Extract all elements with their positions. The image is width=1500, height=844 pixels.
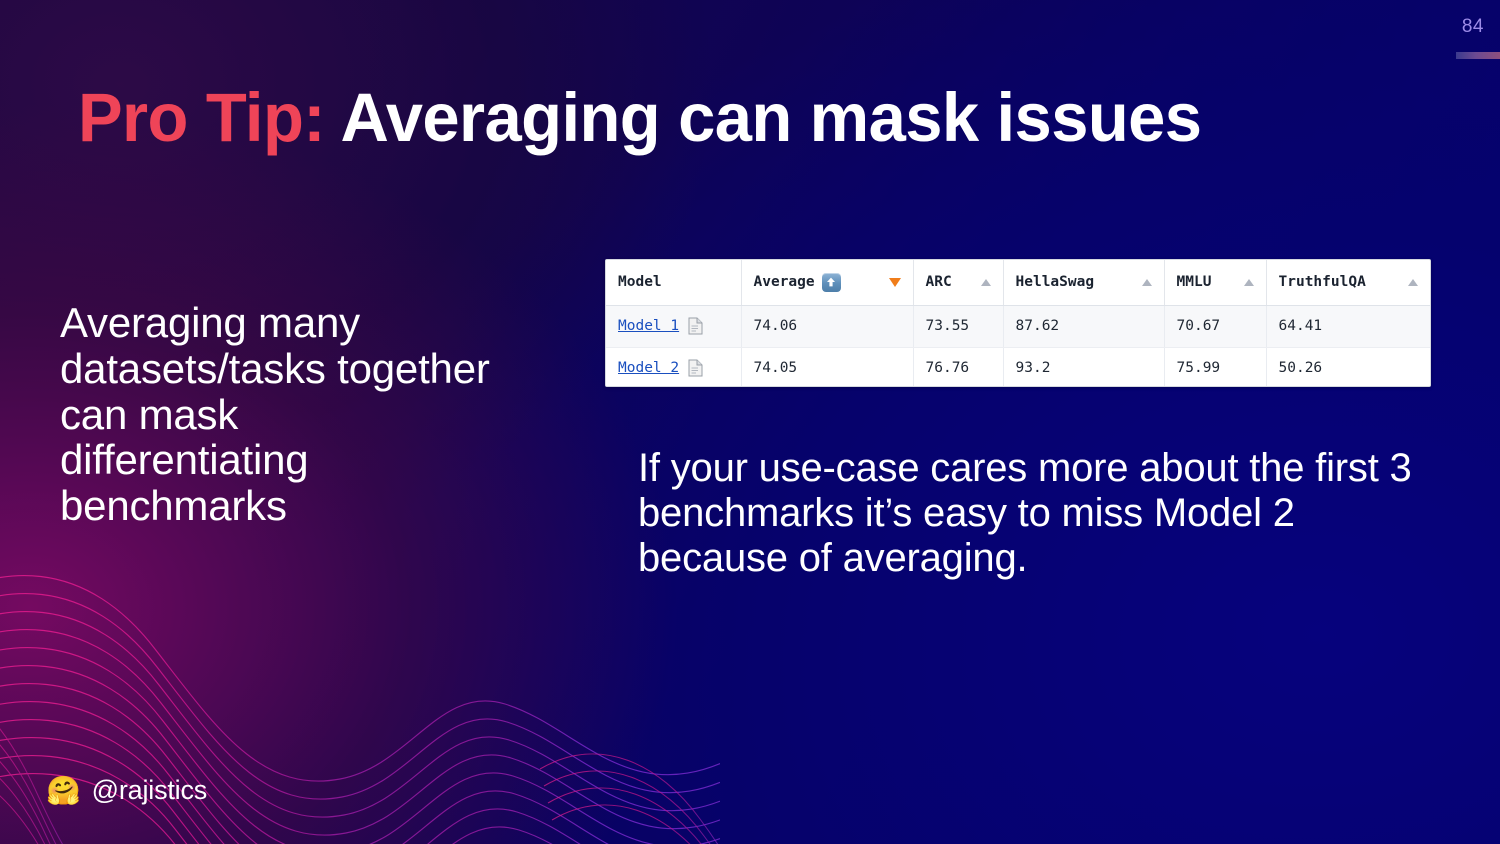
cell-truthfulqa: 64.41 <box>1266 305 1430 347</box>
right-body-text: If your use-case cares more about the fi… <box>638 446 1418 582</box>
sort-ascending-icon[interactable] <box>1142 279 1152 286</box>
column-label-truthfulqa: TruthfulQA <box>1279 274 1366 290</box>
up-arrow-icon <box>822 273 841 292</box>
title-accent: Pro Tip: <box>78 79 325 156</box>
leaderboard-table-card: Model Average <box>605 259 1431 387</box>
column-header-truthfulqa[interactable]: TruthfulQA <box>1266 260 1430 305</box>
cell-model: Model 2 <box>606 347 741 387</box>
document-icon[interactable] <box>687 317 704 335</box>
sort-ascending-icon[interactable] <box>981 279 991 286</box>
page-title: Pro Tip: Averaging can mask issues <box>78 82 1201 154</box>
model-link[interactable]: Model 1 <box>618 318 679 334</box>
hugging-face-icon: 🤗 <box>46 777 81 805</box>
cell-truthfulqa: 50.26 <box>1266 347 1430 387</box>
title-rest: Averaging can mask issues <box>340 79 1201 156</box>
table-row: Model 2 74.05 76.76 93.2 75.99 50.26 <box>606 347 1430 387</box>
left-body-text: Averaging many datasets/tasks together c… <box>60 300 490 529</box>
column-header-average[interactable]: Average <box>741 260 913 305</box>
column-label-hellaswag: HellaSwag <box>1016 274 1095 290</box>
column-label-average: Average <box>754 274 815 290</box>
handle-text: @rajistics <box>92 775 207 806</box>
column-label-mmlu: MMLU <box>1177 274 1212 290</box>
sort-descending-icon[interactable] <box>889 278 901 287</box>
page-indicator: 84 <box>1390 0 1500 62</box>
cell-hellaswag: 87.62 <box>1003 305 1164 347</box>
column-header-hellaswag[interactable]: HellaSwag <box>1003 260 1164 305</box>
column-header-arc[interactable]: ARC <box>913 260 1003 305</box>
sort-ascending-icon[interactable] <box>1408 279 1418 286</box>
cell-average: 74.05 <box>741 347 913 387</box>
model-link[interactable]: Model 2 <box>618 360 679 376</box>
page-accent-bar <box>1456 52 1500 59</box>
page-number: 84 <box>1462 16 1484 38</box>
table-row: Model 1 74.06 73.55 87.62 70.67 64.41 <box>606 305 1430 347</box>
column-label-arc: ARC <box>926 274 952 290</box>
column-header-model[interactable]: Model <box>606 260 741 305</box>
cell-mmlu: 70.67 <box>1164 305 1266 347</box>
sort-ascending-icon[interactable] <box>1244 279 1254 286</box>
slide-canvas: 84 Pro Tip: Averaging can mask issues Av… <box>0 0 1500 844</box>
cell-average: 74.06 <box>741 305 913 347</box>
cell-arc: 76.76 <box>913 347 1003 387</box>
table-header-row: Model Average <box>606 260 1430 305</box>
footer-handle: 🤗 @rajistics <box>46 775 207 806</box>
document-icon[interactable] <box>687 359 704 377</box>
column-header-mmlu[interactable]: MMLU <box>1164 260 1266 305</box>
cell-model: Model 1 <box>606 305 741 347</box>
column-label-model: Model <box>618 274 662 290</box>
cell-hellaswag: 93.2 <box>1003 347 1164 387</box>
cell-arc: 73.55 <box>913 305 1003 347</box>
cell-mmlu: 75.99 <box>1164 347 1266 387</box>
leaderboard-table: Model Average <box>606 260 1430 387</box>
